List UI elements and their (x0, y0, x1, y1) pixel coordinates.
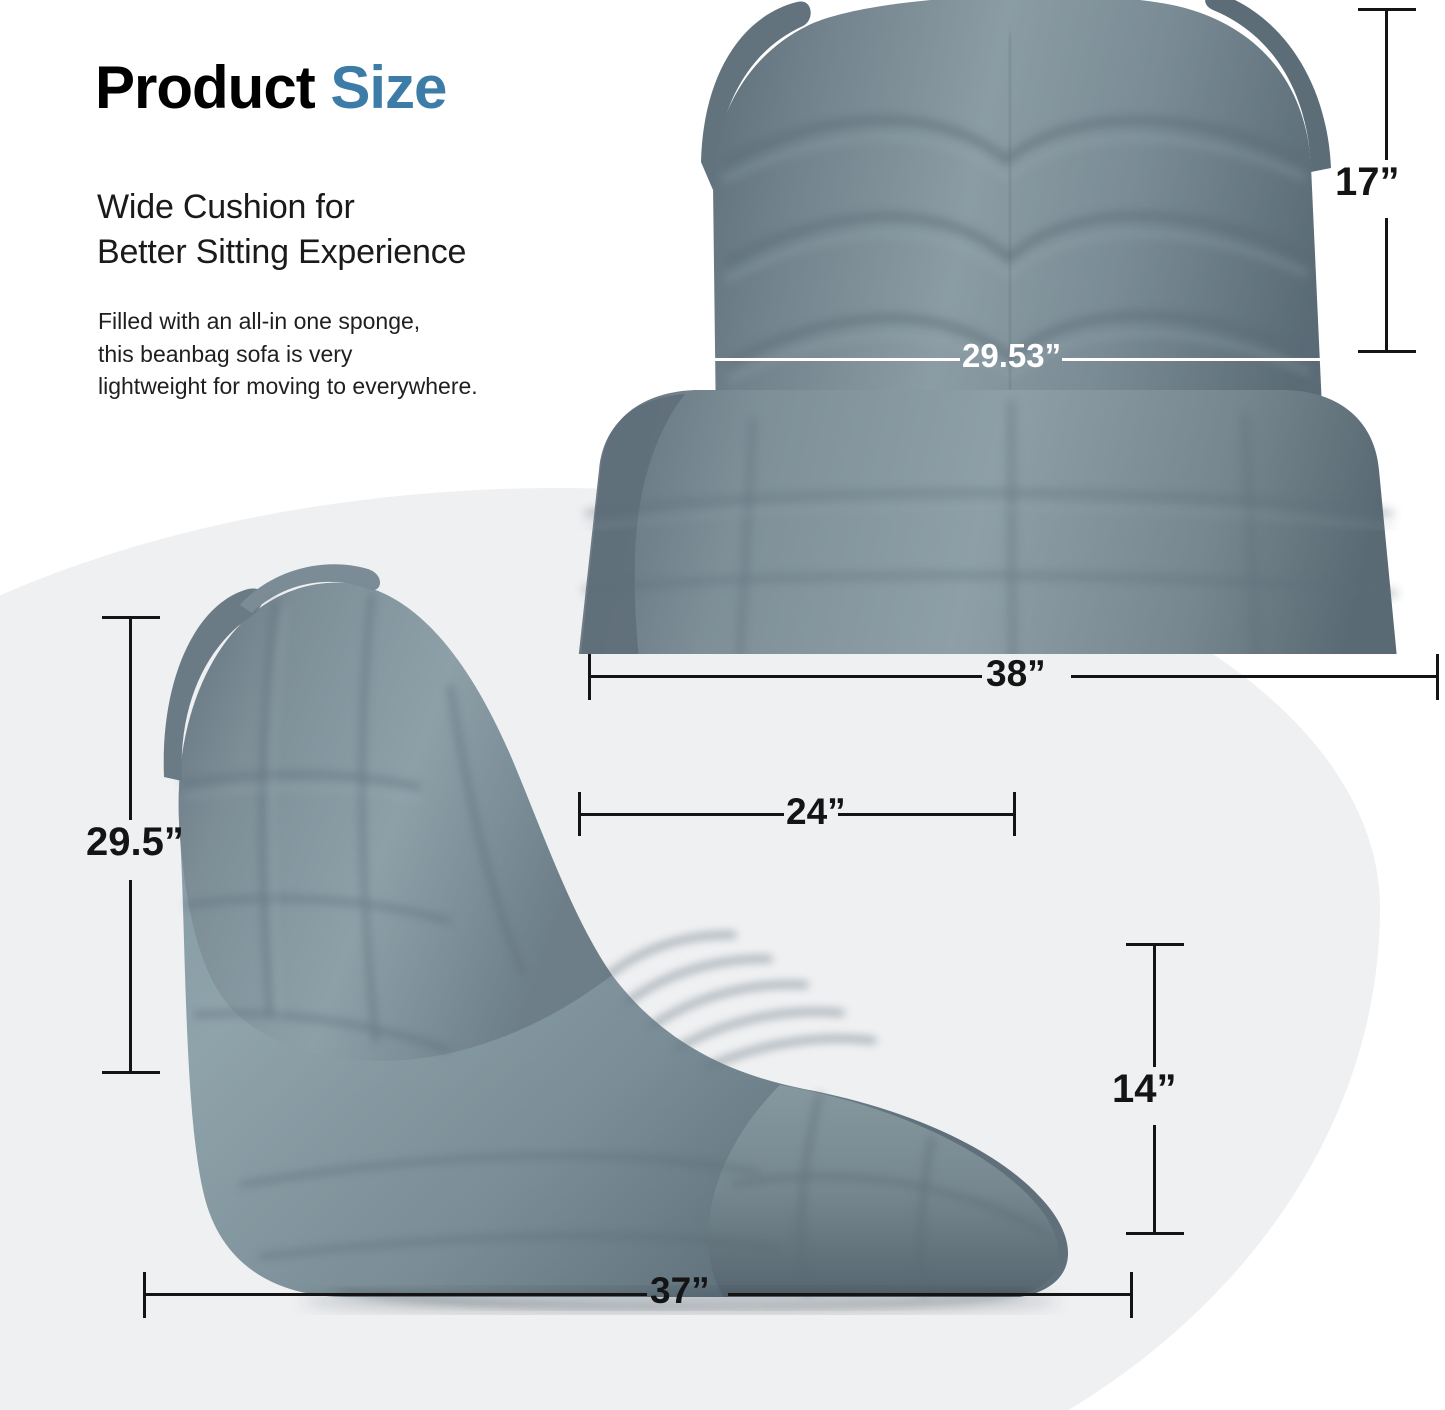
subheading-line-2: Better Sitting Experience (97, 230, 466, 275)
dimension-line-right (728, 1293, 1131, 1296)
subheading-line-1: Wide Cushion for (97, 185, 466, 230)
dimension-24-inches: 24” (578, 789, 1018, 841)
dimension-line-left (145, 1293, 647, 1296)
body-line-2: this beanbag sofa is very (98, 338, 478, 371)
dimension-line-upper (129, 618, 132, 820)
dimension-line-upper (1385, 10, 1388, 160)
dimension-37-inches: 37” (143, 1268, 1135, 1324)
dimension-label-29-5: 29.5” (86, 820, 184, 865)
product-size-infographic: Product Size Wide Cushion for Better Sit… (0, 0, 1445, 1410)
dimension-line-lower (129, 880, 132, 1072)
body-line-1: Filled with an all-in one sponge, (98, 305, 478, 338)
dimension-line-right (838, 813, 1014, 816)
dimension-line-upper (1153, 945, 1156, 1067)
dimension-line-right (1071, 675, 1437, 678)
dimension-label-29-53: 29.53” (962, 337, 1061, 375)
dimension-38-inches: 38” (588, 650, 1440, 706)
dimension-line-left (678, 358, 960, 361)
dimension-label-24: 24” (786, 791, 846, 833)
dimension-line-right (1062, 358, 1336, 361)
subheading: Wide Cushion for Better Sitting Experien… (97, 185, 466, 275)
dimension-14-inches: 14” (1108, 935, 1248, 1247)
body-line-3: lightweight for moving to everywhere. (98, 370, 478, 403)
dimension-line-lower (1153, 1125, 1156, 1235)
dimension-label-17: 17” (1335, 160, 1400, 205)
page-title-word-product: Product (95, 54, 330, 121)
body-description: Filled with an all-in one sponge, this b… (98, 305, 478, 403)
dimension-29-5-inches: 29.5” (86, 608, 236, 1086)
dimension-line-left (580, 813, 784, 816)
dimension-label-38: 38” (986, 653, 1046, 695)
dimension-label-14: 14” (1112, 1067, 1177, 1112)
page-title-word-size: Size (330, 54, 446, 121)
page-title: Product Size (95, 56, 446, 119)
dimension-label-37: 37” (650, 1270, 710, 1312)
dimension-29-53-inches: 29.53” (676, 332, 1346, 382)
dimension-17-inches: 17” (1330, 0, 1445, 365)
dimension-line-lower (1385, 218, 1388, 352)
dimension-line-left (590, 675, 982, 678)
